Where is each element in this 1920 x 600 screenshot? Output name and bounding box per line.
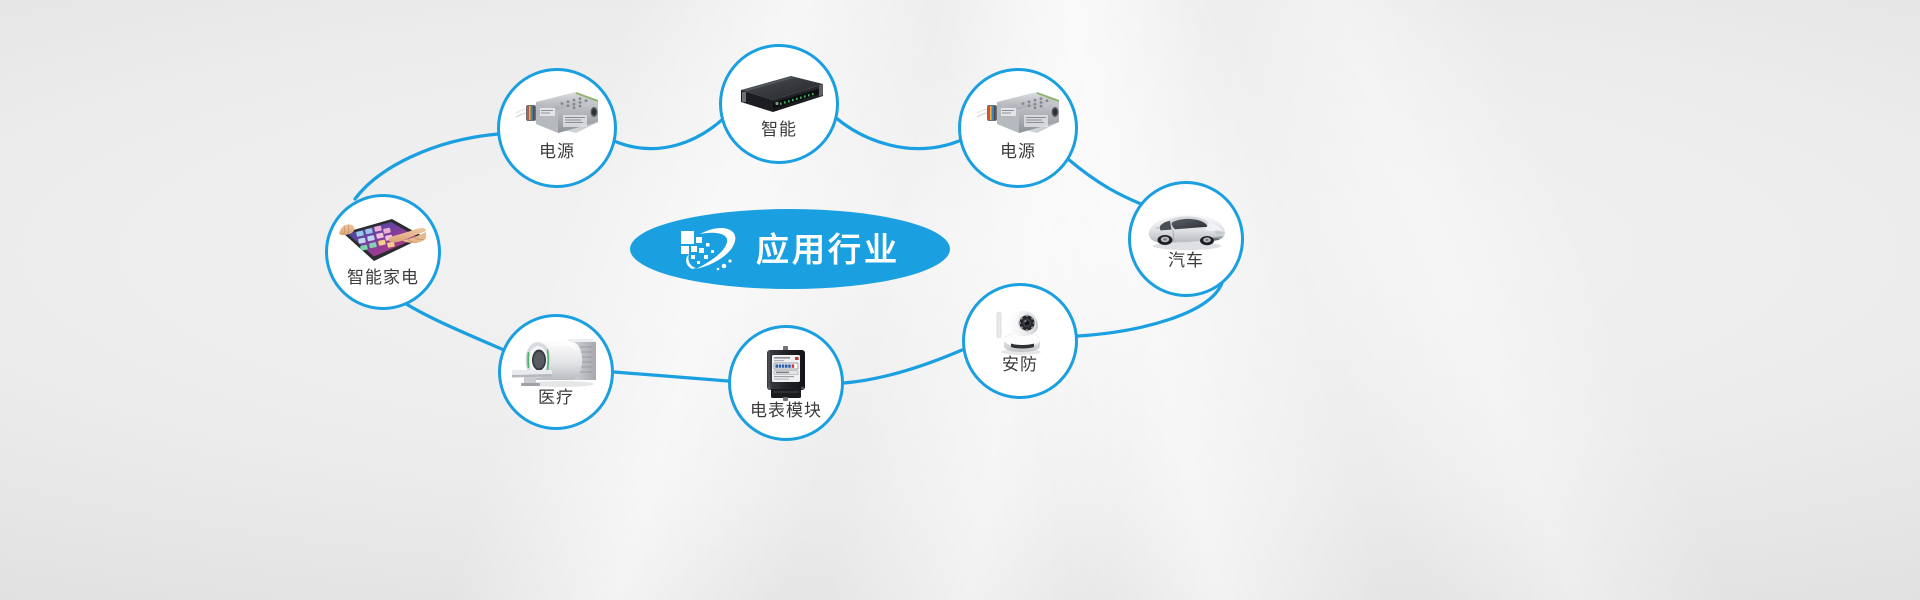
node-medical[interactable]: 医疗: [498, 314, 614, 430]
node-smart-home[interactable]: 智能家电: [325, 194, 441, 310]
node-smart-label: 智能: [761, 121, 797, 138]
node-automotive-art: [1131, 204, 1241, 252]
node-smart-art: [722, 69, 836, 121]
node-medical-label: 医疗: [538, 389, 574, 406]
application-industries-banner: 应用行业: [0, 0, 1920, 600]
pixel-swoosh-logo-icon: [680, 225, 742, 273]
pc-power-supply-icon: [514, 88, 600, 142]
node-automotive-label: 汽车: [1168, 252, 1204, 269]
node-power-right-label: 电源: [1000, 143, 1036, 160]
link-power-left-smart: [614, 118, 724, 149]
node-power-right[interactable]: 电源: [958, 68, 1078, 188]
node-security-label: 安防: [1002, 356, 1038, 373]
node-security-art: [965, 304, 1075, 356]
link-smart-home-power-left: [355, 134, 498, 199]
ip-camera-icon: [984, 304, 1056, 356]
electric-meter-icon: [760, 344, 812, 402]
node-smart-home-art: [328, 213, 438, 269]
pc-power-supply-icon: [975, 88, 1061, 142]
link-security-meter: [844, 350, 962, 383]
tablet-touch-hand-icon: [336, 213, 430, 269]
node-meter-art: [731, 344, 841, 402]
node-power-right-art: [961, 87, 1075, 143]
ring-connector-graphic: [0, 0, 1920, 600]
node-meter-label: 电表模块: [750, 402, 822, 419]
hub-title: 应用行业: [756, 233, 900, 266]
node-medical-art: [501, 335, 611, 389]
node-security[interactable]: 安防: [962, 283, 1078, 399]
node-smart-home-label: 智能家电: [347, 269, 419, 286]
node-power-left-art: [500, 87, 614, 143]
hub-badge: 应用行业: [630, 209, 950, 289]
link-smart-power-right: [835, 117, 959, 149]
link-power-right-automotive: [1068, 159, 1141, 204]
node-smart[interactable]: 智能: [719, 44, 839, 164]
sports-car-icon: [1143, 205, 1229, 251]
node-power-left-label: 电源: [539, 143, 575, 160]
node-meter[interactable]: 电表模块: [728, 325, 844, 441]
link-meter-medical: [614, 372, 728, 381]
mri-ct-scanner-icon: [510, 336, 602, 388]
link-medical-smart-home: [400, 300, 504, 350]
node-automotive[interactable]: 汽车: [1128, 181, 1244, 297]
rackmount-server-icon: [733, 72, 825, 118]
node-power-left[interactable]: 电源: [497, 68, 617, 188]
